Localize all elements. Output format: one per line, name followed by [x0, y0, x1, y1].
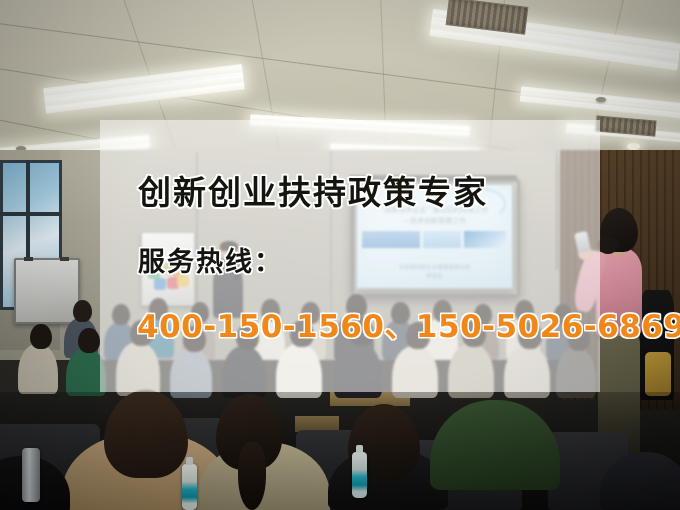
water-bottle: [352, 452, 367, 498]
thermos: [22, 448, 40, 502]
photo-canvas: “高新技术企业” 通过后的持续工作 —技术创新管理工作 北京某科技企业管理咨询公…: [0, 0, 680, 510]
promo-hotline-label: 服务热线：: [138, 240, 283, 279]
audience-head: [73, 300, 92, 322]
audience-head: [78, 328, 100, 353]
smoke-detector: [596, 97, 606, 102]
yellow-bag: [645, 352, 671, 396]
water-bottle: [182, 464, 197, 510]
audience-body: [18, 344, 58, 394]
audience-head: [30, 324, 52, 349]
whiteboard: [14, 258, 80, 324]
standing-attendee-hair-bun: [598, 236, 618, 254]
promo-phone-numbers: 400-150-1560、150-5026-6869: [137, 301, 680, 346]
promo-overlay-text: 创新创业扶持政策专家 服务热线： 400-150-1560、150-5026-6…: [100, 120, 600, 392]
ceiling-light-fixture: [43, 64, 245, 114]
front-attendee-ponytail: [238, 442, 266, 510]
promo-title: 创新创业扶持政策专家: [138, 166, 488, 214]
downlight-icon: [627, 143, 640, 150]
